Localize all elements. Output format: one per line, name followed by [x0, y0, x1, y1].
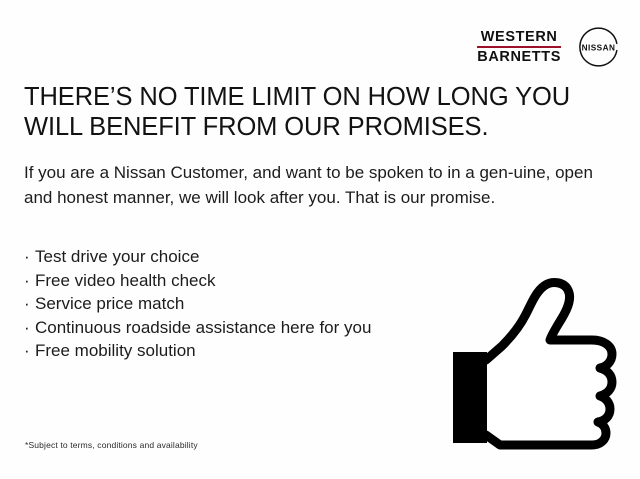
promise-list: ·Test drive your choice ·Free video heal…: [24, 245, 371, 363]
footnote-text: *Subject to terms, conditions and availa…: [25, 440, 198, 450]
list-item: ·Free mobility solution: [24, 339, 371, 363]
dealer-logo-rule: [477, 46, 561, 48]
dealer-name-line2: BARNETTS: [477, 50, 561, 65]
promise-poster: WESTERN BARNETTS NISSAN THERE’S NO TIME …: [0, 0, 640, 479]
intro-paragraph: If you are a Nissan Customer, and want t…: [24, 160, 604, 210]
thumbs-up-icon: [440, 272, 626, 452]
brand-bar: WESTERN BARNETTS NISSAN: [477, 26, 622, 68]
list-item-label: Test drive your choice: [35, 247, 199, 266]
nissan-logo-icon: NISSAN: [575, 26, 622, 68]
list-item: ·Test drive your choice: [24, 245, 371, 269]
list-item: ·Free video health check: [24, 269, 371, 293]
page-title: THERE’S NO TIME LIMIT ON HOW LONG YOU WI…: [24, 82, 620, 142]
bullet-icon: ·: [24, 316, 35, 340]
svg-text:NISSAN: NISSAN: [582, 43, 616, 52]
bullet-icon: ·: [24, 339, 35, 363]
dealer-logo: WESTERN BARNETTS: [477, 30, 561, 65]
dealer-name-line1: WESTERN: [481, 30, 558, 45]
list-item: ·Continuous roadside assistance here for…: [24, 316, 371, 340]
list-item: ·Service price match: [24, 292, 371, 316]
bullet-icon: ·: [24, 269, 35, 293]
bullet-icon: ·: [24, 292, 35, 316]
list-item-label: Service price match: [35, 294, 184, 313]
list-item-label: Free mobility solution: [35, 341, 196, 360]
bullet-icon: ·: [24, 245, 35, 269]
list-item-label: Free video health check: [35, 271, 216, 290]
list-item-label: Continuous roadside assistance here for …: [35, 318, 371, 337]
